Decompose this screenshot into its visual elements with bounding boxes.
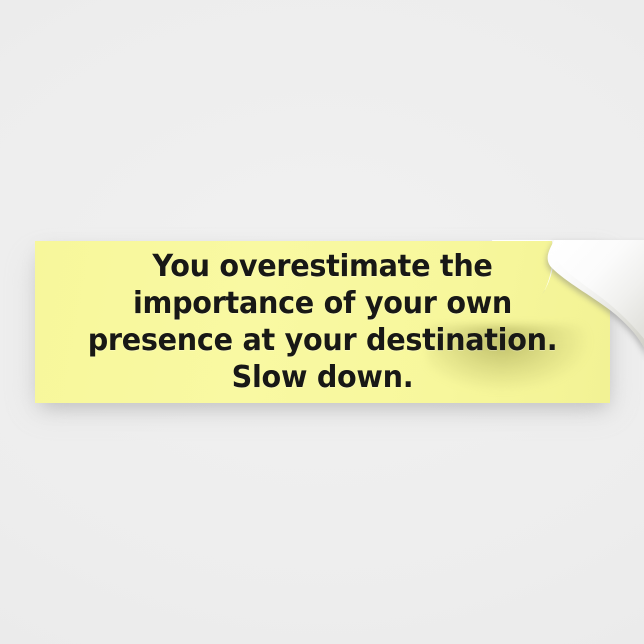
peeling-corner[interactable]	[532, 240, 644, 358]
bumper-sticker[interactable]: You overestimate the importance of your …	[35, 241, 610, 403]
product-preview-canvas: You overestimate the importance of your …	[0, 0, 644, 644]
